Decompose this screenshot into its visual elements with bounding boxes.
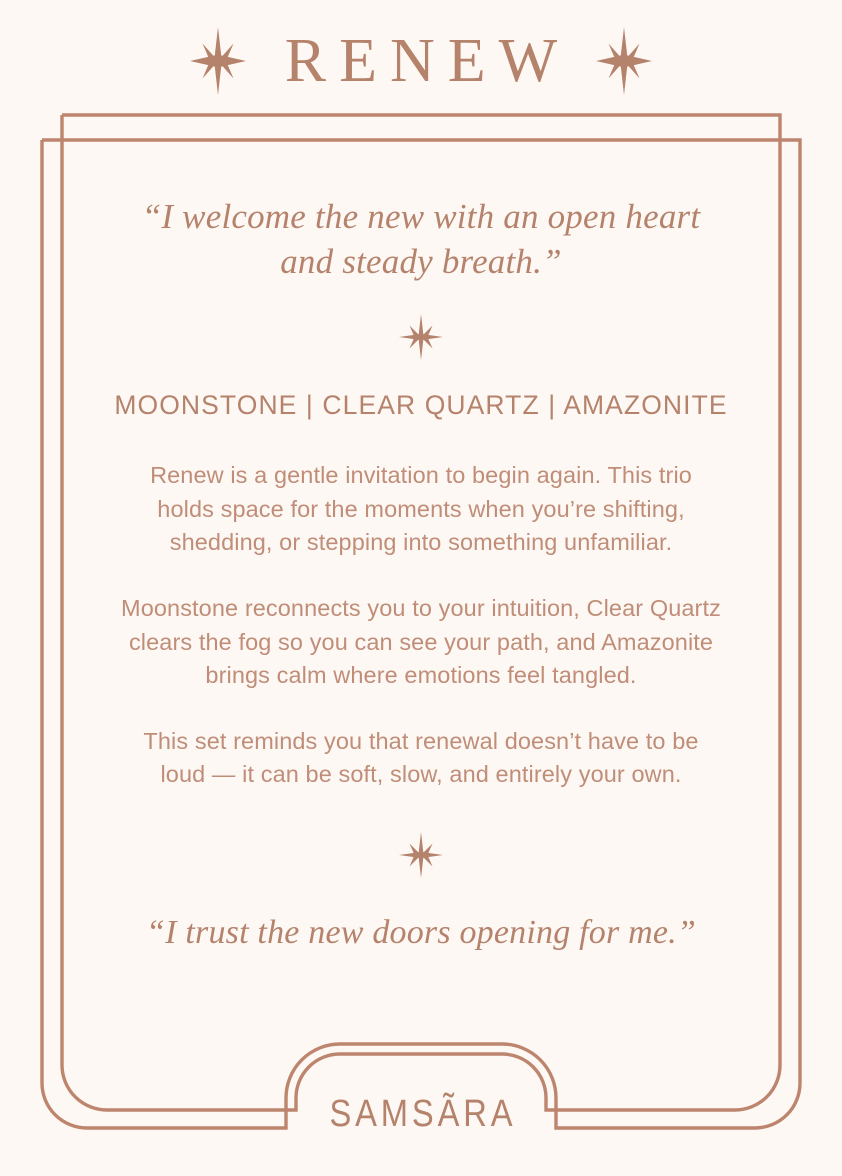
page-title: RENEW <box>0 22 842 100</box>
card-content: “I welcome the new with an open heart an… <box>74 150 768 1080</box>
page-title-text: RENEW <box>272 30 570 92</box>
stone-list: MOONSTONE | CLEAR QUARTZ | AMAZONITE <box>114 390 727 421</box>
sparkle-star-icon <box>399 832 443 878</box>
description-paragraph: Renew is a gentle invitation to begin ag… <box>121 459 721 560</box>
four-point-star-icon <box>190 27 246 95</box>
description-paragraph: Moonstone reconnects you to your intuiti… <box>121 592 721 693</box>
brand-logo: SAMSÃRA <box>59 1095 783 1133</box>
renew-crystal-card: RENEW “I welcome the new with an open he… <box>0 0 842 1176</box>
description-block: Renew is a gentle invitation to begin ag… <box>121 459 721 792</box>
opening-affirmation: “I welcome the new with an open heart an… <box>141 194 701 284</box>
four-point-star-icon <box>596 27 652 95</box>
description-paragraph: This set reminds you that renewal doesn’… <box>121 725 721 792</box>
closing-affirmation: “I trust the new doors opening for me.” <box>91 912 751 955</box>
sparkle-star-icon <box>399 314 443 360</box>
